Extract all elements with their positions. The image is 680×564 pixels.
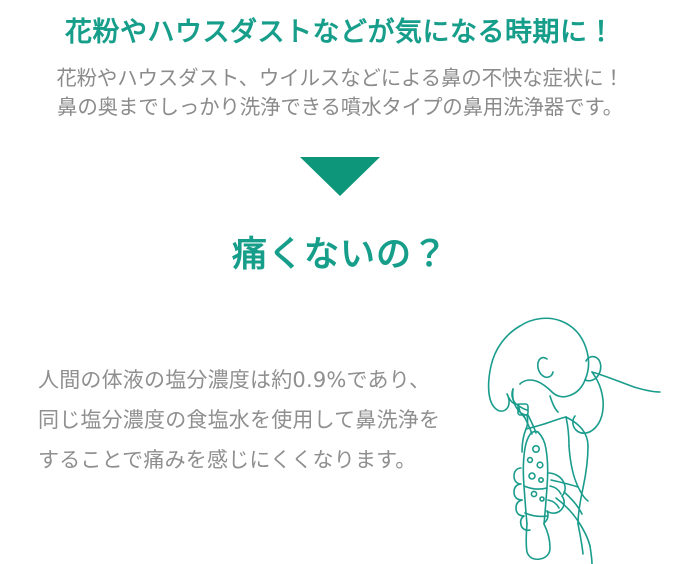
person-using-nasal-irrigator-illustration [468, 308, 680, 564]
lead-copy-line-2: 鼻の奥までしっかり洗浄できる噴水タイプの鼻用洗浄器です。 [0, 93, 680, 122]
lead-copy: 花粉やハウスダスト、ウイルスなどによる鼻の不快な症状に！ 鼻の奥までしっかり洗浄… [0, 50, 680, 122]
explanation-text: 人間の体液の塩分濃度は約0.9%であり、 同じ塩分濃度の食塩水を使用して鼻洗浄を… [38, 360, 478, 480]
page-title: 花粉やハウスダストなどが気になる時期に！ [0, 0, 680, 50]
lead-copy-line-1: 花粉やハウスダスト、ウイルスなどによる鼻の不快な症状に！ [0, 64, 680, 93]
question-heading: 痛くないの？ [0, 234, 680, 276]
intro-section: 花粉やハウスダストなどが気になる時期に！ 花粉やハウスダスト、ウイルスなどによる… [0, 0, 680, 122]
product-description-page: 花粉やハウスダストなどが気になる時期に！ 花粉やハウスダスト、ウイルスなどによる… [0, 0, 680, 564]
explanation-line-3: することで痛みを感じにくくなります。 [38, 440, 478, 480]
explanation-line-2: 同じ塩分濃度の食塩水を使用して鼻洗浄を [38, 400, 478, 440]
section-divider [0, 157, 680, 196]
explanation-line-1: 人間の体液の塩分濃度は約0.9%であり、 [38, 360, 478, 400]
triangle-down-icon [300, 157, 380, 196]
